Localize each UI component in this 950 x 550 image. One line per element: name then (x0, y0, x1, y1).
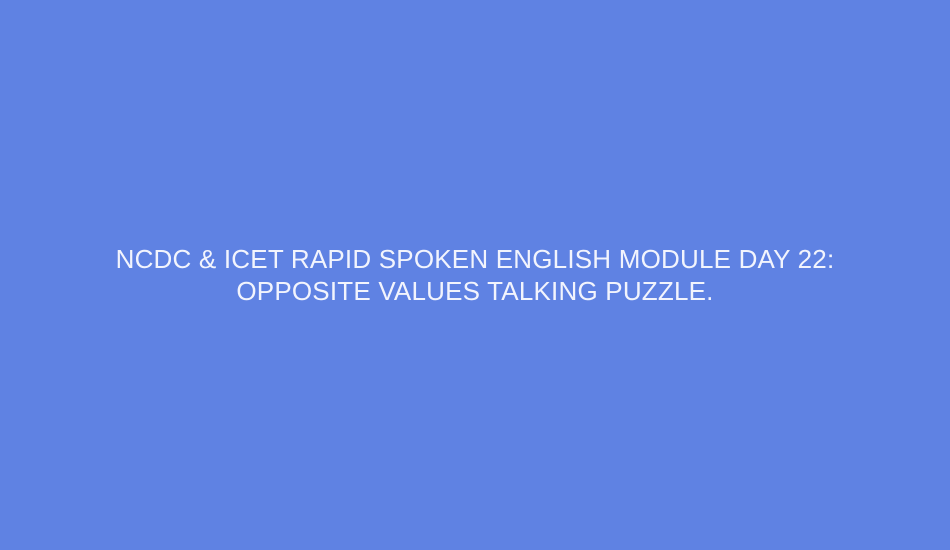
title-block: NCDC & ICET RAPID SPOKEN ENGLISH MODULE … (75, 243, 875, 307)
placeholder-card: NCDC & ICET RAPID SPOKEN ENGLISH MODULE … (0, 0, 950, 550)
page-title: NCDC & ICET RAPID SPOKEN ENGLISH MODULE … (91, 243, 859, 307)
